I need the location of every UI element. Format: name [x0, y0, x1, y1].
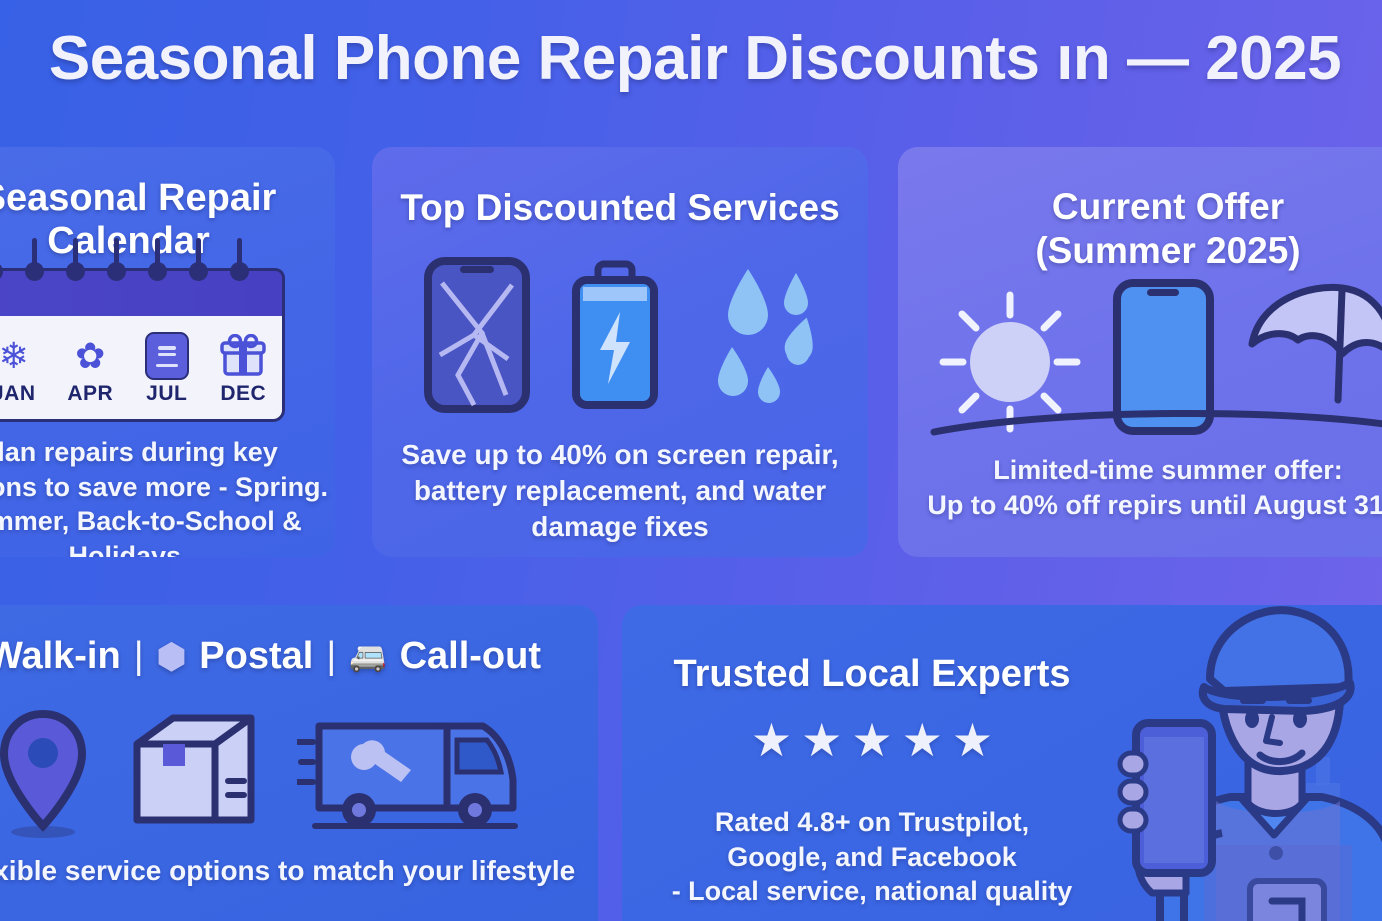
card-service-options: Walk-in | ⬢ Postal | 🚐 Call-out [0, 605, 598, 921]
service-van-icon [297, 708, 532, 838]
calendar-month-cell: DEC [205, 330, 282, 406]
title-separator: | [326, 635, 336, 678]
option-icons-row [0, 705, 598, 840]
gift-icon [205, 330, 282, 382]
card-trusted-local-experts: Trusted Local Experts ★ ★ ★ ★ ★ Rated 4.… [622, 605, 1382, 921]
calendar-month-label: JUL [129, 382, 206, 406]
calendar-month-grid: ❄ JAN ✿ APR [0, 316, 285, 422]
option-label-callout: Call-out [400, 635, 541, 678]
card-description: Plan repairs during key seasons to save … [0, 435, 335, 557]
calendar-month-cell: JUL [129, 330, 206, 406]
card-title: Seasonal Repair Calendar [0, 177, 335, 263]
card-description: Limited-time summer offer: Up to 40% off… [898, 453, 1382, 522]
card-description: Flexible service options to match your l… [0, 853, 598, 889]
card-title: Trusted Local Experts [622, 653, 1122, 696]
trusted-line2: Google, and Facebook [622, 840, 1122, 875]
technician-illustration [1064, 605, 1382, 921]
calendar-month-label: APR [52, 382, 129, 406]
option-label-postal: Postal [199, 635, 313, 678]
book-icon-shape [145, 332, 189, 380]
card-current-offer: Current Offer (Summer 2025) [898, 147, 1382, 557]
beach-horizon-line [898, 402, 1382, 444]
trusted-line1: Rated 4.8+ on Trustpilot, [622, 805, 1122, 840]
van-icon: 🚐 [349, 639, 386, 674]
card-title-line1: Current Offer [898, 185, 1382, 229]
calendar-ring-icon [237, 238, 242, 272]
card-title-line2: (Summer 2025) [898, 229, 1382, 273]
calendar-ring-icon [155, 238, 160, 272]
snowflake-icon: ❄ [0, 330, 52, 382]
cracked-phone-icon [422, 255, 532, 415]
card-description: Rated 4.8+ on Trustpilot, Google, and Fa… [622, 805, 1122, 909]
page-title: Seasonal Phone Repair Discounts ın — 202… [49, 23, 1341, 94]
trusted-line3: - Local service, national quality [622, 874, 1122, 909]
calendar-month-cell: ✿ APR [52, 330, 129, 406]
card-title: Walk-in | ⬢ Postal | 🚐 Call-out [0, 635, 598, 678]
calendar-ring-icon [196, 238, 201, 272]
card-title: Top Discounted Services [372, 187, 868, 229]
card-title: Current Offer (Summer 2025) [898, 185, 1382, 272]
card-top-discounted-services: Top Discounted Services [372, 147, 868, 557]
location-pin-icon [0, 708, 91, 838]
star-icon: ★ [902, 717, 943, 763]
calendar-month-cell: ❄ JAN [0, 330, 52, 406]
water-drops-icon [698, 255, 818, 415]
star-icon: ★ [952, 717, 993, 763]
card-description: Save up to 40% on screen repair, battery… [372, 437, 868, 544]
battery-icon [570, 260, 660, 410]
card-seasonal-repair-calendar: Seasonal Repair Calendar ❄ JAN ✿ APR [0, 147, 335, 557]
star-rating: ★ ★ ★ ★ ★ [622, 717, 1122, 763]
infographic-canvas: Seasonal Phone Repair Discounts ın — 202… [0, 0, 1382, 921]
flower-icon: ✿ [52, 330, 129, 382]
offer-line1: Limited-time summer offer: [898, 453, 1382, 488]
page-header: Seasonal Phone Repair Discounts ın — 202… [0, 8, 1382, 108]
calendar-graphic: ❄ JAN ✿ APR [0, 252, 285, 422]
offer-line2: Up to 40% off repirs until August 31+! [898, 488, 1382, 523]
star-icon: ★ [751, 717, 792, 763]
calendar-month-label: DEC [205, 382, 282, 406]
title-separator: | [134, 635, 144, 678]
calendar-ring-icon [73, 238, 78, 272]
option-label-walkin: Walk-in [0, 635, 121, 678]
box-icon: ⬢ [157, 637, 187, 677]
book-icon [129, 330, 206, 382]
calendar-ring-icon [32, 238, 37, 272]
calendar-month-label: JAN [0, 382, 52, 406]
service-icons-row [372, 252, 868, 417]
star-icon: ★ [801, 717, 842, 763]
calendar-ring-icon [114, 238, 119, 272]
star-icon: ★ [851, 717, 892, 763]
parcel-box-icon [129, 710, 259, 835]
